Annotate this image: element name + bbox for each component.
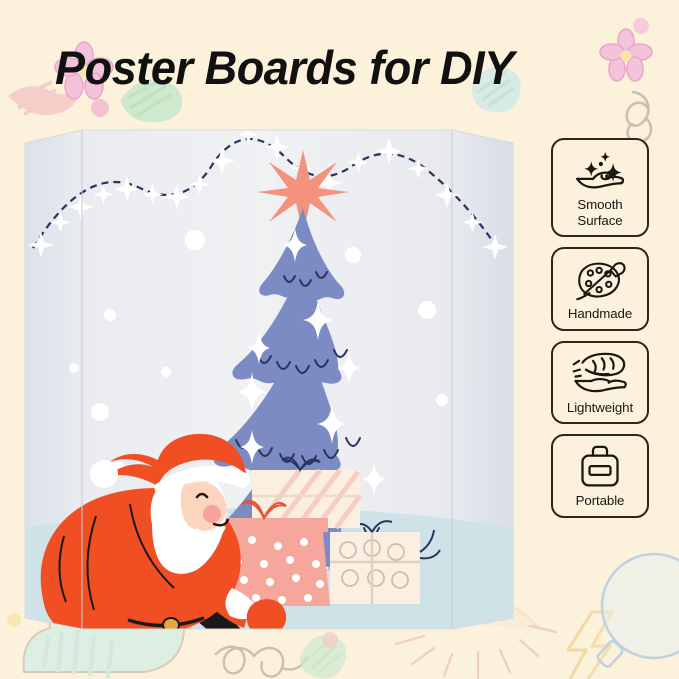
feature-label-lightweight: Lightweight	[567, 400, 633, 416]
feature-card-portable[interactable]: Portable	[551, 434, 649, 518]
screenshot-canvas: Poster Boards for DIY	[0, 0, 679, 679]
feature-card-handmade[interactable]: Handmade	[551, 247, 649, 331]
magnifier-doodle-bottom-right	[596, 554, 679, 668]
palette-brush-icon	[572, 258, 628, 302]
lightning-bolt-doodle-bottom-right	[568, 612, 612, 679]
label-line-1: Smooth	[577, 197, 622, 212]
feature-label-smooth-surface: Smooth Surface	[577, 197, 622, 228]
feature-card-smooth-surface[interactable]: Smooth Surface	[551, 138, 649, 237]
feature-label-handmade: Handmade	[568, 306, 632, 322]
feature-card-lightweight[interactable]: Lightweight	[551, 341, 649, 425]
tri-fold-poster-board	[0, 100, 540, 660]
page-title: Poster Boards for DIY	[55, 40, 514, 95]
feature-card-list: Smooth Surface Handma	[551, 138, 651, 528]
feature-label-portable: Portable	[576, 493, 625, 509]
briefcase-icon	[572, 445, 628, 489]
label-line-2: Surface	[577, 213, 622, 228]
title-bar: Poster Boards for DIY	[0, 18, 679, 98]
sparkle-hand-icon	[572, 149, 628, 193]
feather-hand-icon	[572, 352, 628, 396]
